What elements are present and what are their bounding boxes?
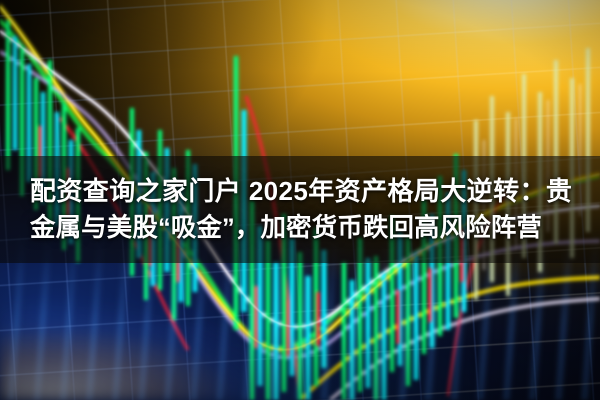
headline-line-2: 金属与美股“吸金”，加密货币跌回高风险阵营	[30, 210, 584, 247]
headline-overlay-band: 配资查询之家门户 2025年资产格局大逆转：贵 金属与美股“吸金”，加密货币跌回…	[0, 156, 600, 263]
news-banner: 配资查询之家门户 2025年资产格局大逆转：贵 金属与美股“吸金”，加密货币跌回…	[0, 0, 600, 400]
headline-line-1: 配资查询之家门户 2025年资产格局大逆转：贵	[30, 173, 584, 210]
